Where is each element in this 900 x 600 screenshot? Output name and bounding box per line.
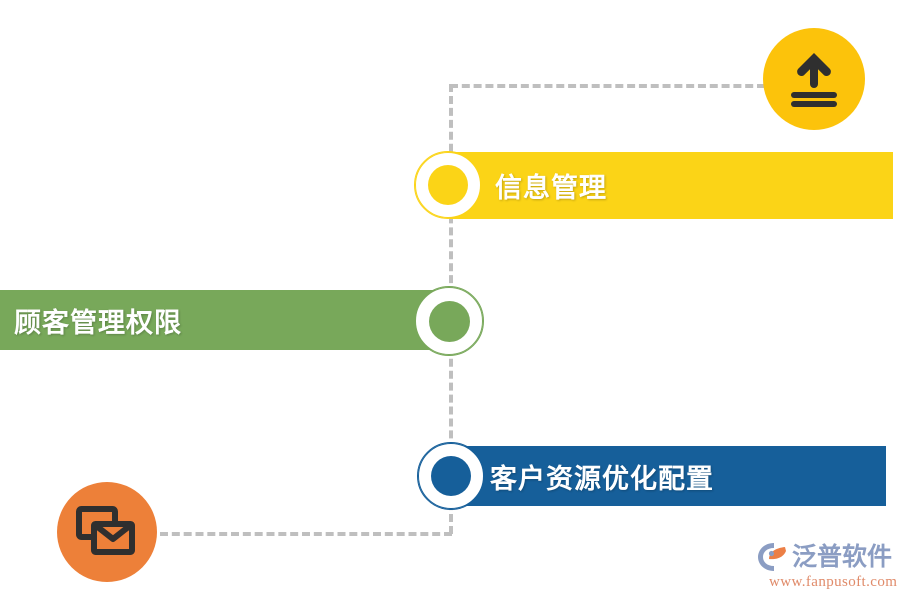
node-marker-info-management[interactable]: [414, 151, 482, 219]
brand-logo: 泛普软件 www.fanpusoft.com: [757, 541, 895, 591]
node-ring-blue: [418, 443, 484, 509]
bar-customer-resource-optimization[interactable]: 客户资源优化配置: [450, 446, 886, 506]
infographic-canvas: 信息管理 顾客管理权限 客户资源优化配置: [0, 0, 900, 600]
node-dot-blue: [431, 456, 471, 496]
upload-badge[interactable]: [763, 28, 865, 130]
connector-top-horizontal: [450, 84, 765, 88]
brand-url: www.fanpusoft.com: [769, 574, 895, 591]
bar-label-customer-management-permission: 顾客管理权限: [14, 301, 182, 340]
brand-name: 泛普软件: [792, 542, 892, 572]
node-dot-green: [429, 301, 470, 342]
bar-info-management[interactable]: 信息管理: [450, 152, 893, 219]
node-marker-customer-management-permission[interactable]: [414, 286, 484, 356]
bar-label-customer-resource-optimization: 客户资源优化配置: [490, 457, 714, 496]
fanpu-logo-mark: [757, 542, 791, 572]
node-ring-green: [415, 287, 483, 355]
node-dot-yellow: [428, 165, 468, 205]
node-ring-yellow: [415, 152, 481, 218]
bar-label-info-management: 信息管理: [495, 166, 607, 205]
connector-bottom-horizontal: [160, 532, 452, 536]
envelope-icon: [76, 506, 138, 558]
brand-logo-row: 泛普软件: [757, 541, 895, 573]
node-marker-customer-resource-optimization[interactable]: [417, 442, 485, 510]
bar-customer-management-permission[interactable]: 顾客管理权限: [0, 290, 450, 350]
mail-badge[interactable]: [57, 482, 157, 582]
upload-icon: [786, 50, 842, 108]
